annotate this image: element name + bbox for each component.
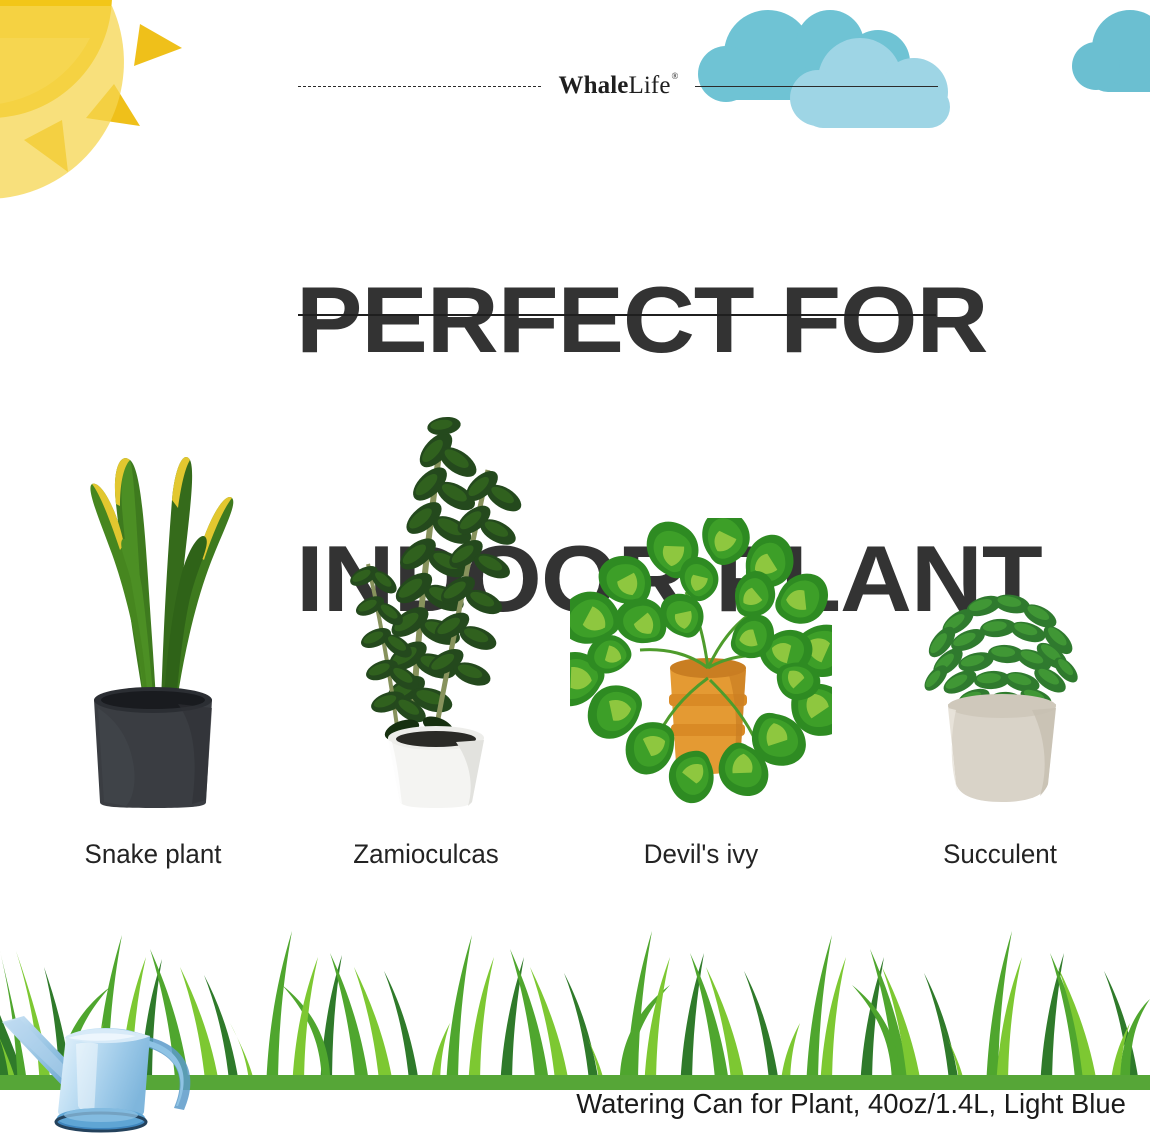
- brand-row: WhaleLife®: [298, 66, 938, 104]
- watering-can-icon: [0, 1014, 244, 1132]
- devils-ivy-image: [570, 518, 832, 808]
- brand-name-light: Life: [628, 72, 670, 99]
- product-caption: Watering Can for Plant, 40oz/1.4L, Light…: [576, 1087, 1126, 1121]
- succulent-image: [900, 558, 1100, 808]
- headline-divider: [298, 314, 936, 316]
- brand-rule-right: [695, 86, 938, 87]
- infographic-page: WhaleLife® PERFECT FOR INDOOR PLANT: [0, 0, 1150, 1135]
- plant-label-devils-ivy: Devil's ivy: [575, 840, 827, 870]
- plant-label-snake-plant: Snake plant: [33, 840, 273, 870]
- plant-card-devils-ivy: Devil's ivy: [570, 360, 832, 870]
- cloud-edge: [1072, 10, 1150, 92]
- plant-card-snake-plant: Snake plant: [28, 360, 278, 870]
- plant-label-succulent: Succulent: [885, 840, 1115, 870]
- plant-card-succulent: Succulent: [880, 360, 1120, 870]
- plant-card-zamioculcas: Zamioculcas: [298, 360, 554, 870]
- sun-icon: [0, 0, 202, 208]
- plant-label-zamioculcas: Zamioculcas: [303, 840, 549, 870]
- brand-name-bold: Whale: [559, 72, 629, 99]
- snake-plant-image: [38, 408, 268, 808]
- zamioculcas-image: [306, 358, 546, 808]
- brand-rule-left: [298, 86, 541, 87]
- grass-band-graphic: [0, 895, 1150, 1090]
- plants-row: Snake plant: [0, 340, 1150, 870]
- brand-logo: WhaleLife®: [559, 73, 678, 98]
- registered-mark-icon: ®: [672, 71, 679, 81]
